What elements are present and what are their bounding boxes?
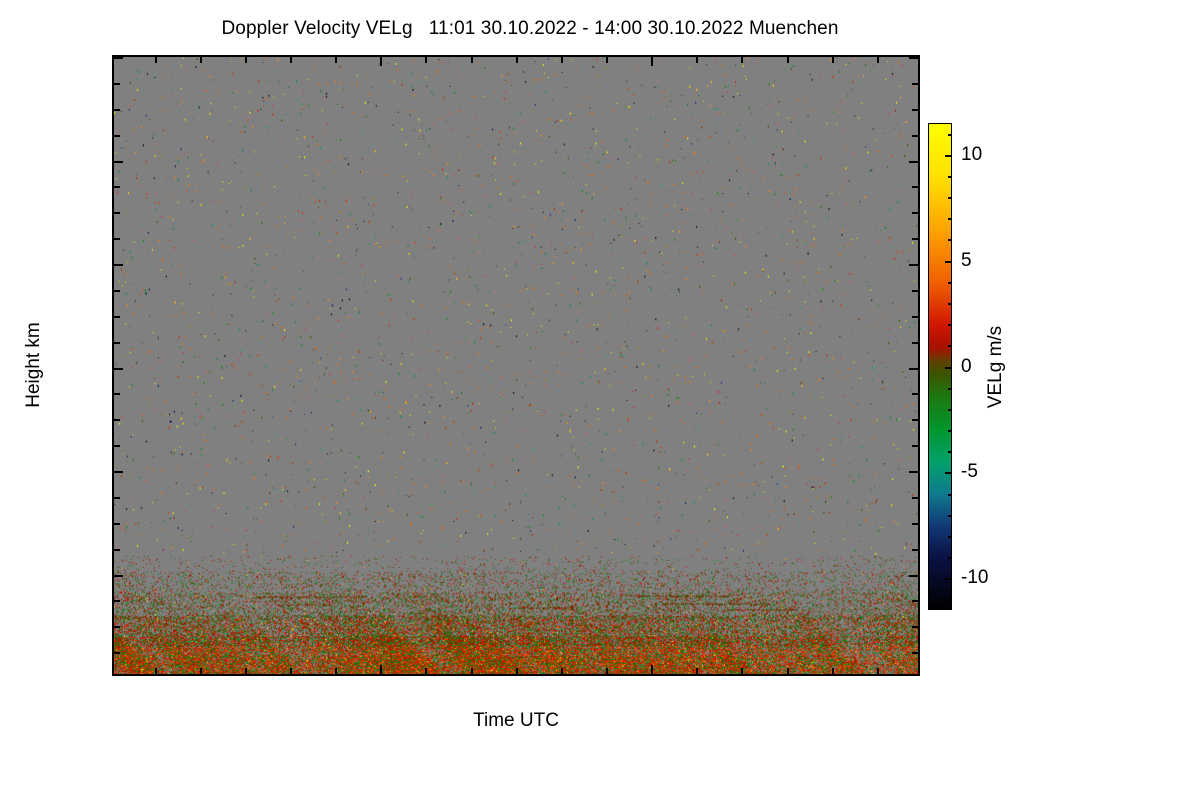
x-tick <box>561 668 563 674</box>
x-tick <box>832 668 834 674</box>
x-tick-top <box>245 57 247 63</box>
x-tick-top <box>335 57 337 63</box>
x-tick <box>425 668 427 674</box>
x-tick <box>741 668 743 674</box>
x-tick-top <box>471 57 473 63</box>
colorbar-tick <box>948 599 952 601</box>
y-tick-right <box>912 238 918 240</box>
x-tick <box>471 668 473 674</box>
x-tick-top <box>155 57 157 63</box>
colorbar-tick <box>945 155 952 157</box>
plot-area: 02468101212:0013:0014:00 <box>112 55 920 676</box>
colorbar-tick <box>948 197 952 199</box>
colorbar-tick-label: 5 <box>961 250 972 272</box>
x-tick-top <box>425 57 427 63</box>
heatmap-canvas <box>114 57 918 674</box>
colorbar-tick <box>945 367 952 369</box>
y-tick-right <box>912 342 918 344</box>
y-tick-right <box>912 186 918 188</box>
colorbar-tick <box>948 557 952 559</box>
x-tick <box>290 668 292 674</box>
colorbar-tick <box>948 239 952 241</box>
x-tick <box>380 665 382 674</box>
y-tick <box>114 186 120 188</box>
colorbar-tick <box>945 578 952 580</box>
x-tick <box>606 668 608 674</box>
doppler-velocity-figure: Doppler Velocity VELg 11:01 30.10.2022 -… <box>0 0 1200 800</box>
x-tick <box>651 665 653 674</box>
y-tick <box>114 316 120 318</box>
y-tick <box>114 290 120 292</box>
y-tick-right <box>909 368 918 370</box>
y-tick <box>114 212 120 214</box>
x-tick <box>516 668 518 674</box>
colorbar-tick-label: 0 <box>961 356 972 378</box>
y-tick <box>114 135 120 137</box>
colorbar-tick <box>948 409 952 411</box>
y-tick <box>114 368 123 370</box>
x-tick <box>696 668 698 674</box>
y-tick-right <box>912 523 918 525</box>
y-tick <box>114 652 120 654</box>
colorbar-tick <box>948 451 952 453</box>
y-tick-right <box>912 83 918 85</box>
y-tick-right <box>909 264 918 266</box>
x-tick-top <box>516 57 518 63</box>
x-tick <box>155 668 157 674</box>
colorbar-title: VELg m/s <box>985 326 1007 408</box>
y-tick-right <box>912 549 918 551</box>
colorbar-tick <box>945 261 952 263</box>
y-tick <box>114 161 123 163</box>
y-tick-right <box>909 57 918 59</box>
y-tick-right <box>909 471 918 473</box>
x-tick-top <box>877 57 879 63</box>
y-tick <box>114 497 120 499</box>
y-tick <box>114 549 120 551</box>
colorbar-tick-label: -5 <box>961 461 978 483</box>
y-tick <box>114 419 120 421</box>
y-tick-right <box>912 652 918 654</box>
y-tick-right <box>912 109 918 111</box>
y-tick-right <box>912 600 918 602</box>
x-tick-top <box>380 57 382 66</box>
x-tick-top <box>741 57 743 63</box>
y-tick-right <box>912 445 918 447</box>
colorbar-tick-label: 10 <box>961 144 982 166</box>
y-tick-right <box>912 135 918 137</box>
colorbar-tick <box>948 134 952 136</box>
y-tick <box>114 264 123 266</box>
x-tick <box>200 668 202 674</box>
y-tick <box>114 575 123 577</box>
x-tick-top <box>200 57 202 63</box>
x-axis-title: Time UTC <box>473 710 559 732</box>
y-tick-right <box>912 212 918 214</box>
colorbar-tick <box>945 472 952 474</box>
y-tick-right <box>912 316 918 318</box>
x-tick-top <box>696 57 698 63</box>
colorbar-tick <box>948 218 952 220</box>
y-tick <box>114 109 120 111</box>
y-tick-right <box>912 290 918 292</box>
y-tick-right <box>909 161 918 163</box>
x-tick <box>245 668 247 674</box>
x-tick-top <box>651 57 653 66</box>
colorbar-tick <box>948 430 952 432</box>
x-tick <box>335 668 337 674</box>
colorbar-tick <box>948 303 952 305</box>
x-tick-top <box>606 57 608 63</box>
y-tick <box>114 626 120 628</box>
y-tick <box>114 57 123 59</box>
x-tick-top <box>561 57 563 63</box>
colorbar-tick-label: -10 <box>961 567 988 589</box>
colorbar-tick <box>948 324 952 326</box>
chart-title: Doppler Velocity VELg 11:01 30.10.2022 -… <box>0 18 1060 40</box>
y-tick <box>114 83 120 85</box>
colorbar-tick <box>948 282 952 284</box>
x-tick <box>787 668 789 674</box>
colorbar-tick <box>948 494 952 496</box>
y-tick <box>114 600 120 602</box>
y-tick-right <box>912 393 918 395</box>
y-tick-right <box>909 575 918 577</box>
y-tick-right <box>912 626 918 628</box>
colorbar-tick <box>948 176 952 178</box>
colorbar-tick <box>948 515 952 517</box>
x-tick-top <box>832 57 834 63</box>
y-tick <box>114 523 120 525</box>
colorbar-tick <box>948 345 952 347</box>
colorbar-tick <box>948 536 952 538</box>
x-tick-top <box>787 57 789 63</box>
x-tick-top <box>290 57 292 63</box>
y-axis-title: Height km <box>23 322 45 408</box>
y-tick <box>114 393 120 395</box>
y-tick <box>114 445 120 447</box>
y-tick <box>114 342 120 344</box>
y-tick-right <box>912 497 918 499</box>
y-tick <box>114 238 120 240</box>
x-tick <box>877 668 879 674</box>
colorbar: 1050-5-10 <box>928 123 952 610</box>
y-tick-right <box>912 419 918 421</box>
y-tick <box>114 471 123 473</box>
colorbar-tick <box>948 388 952 390</box>
